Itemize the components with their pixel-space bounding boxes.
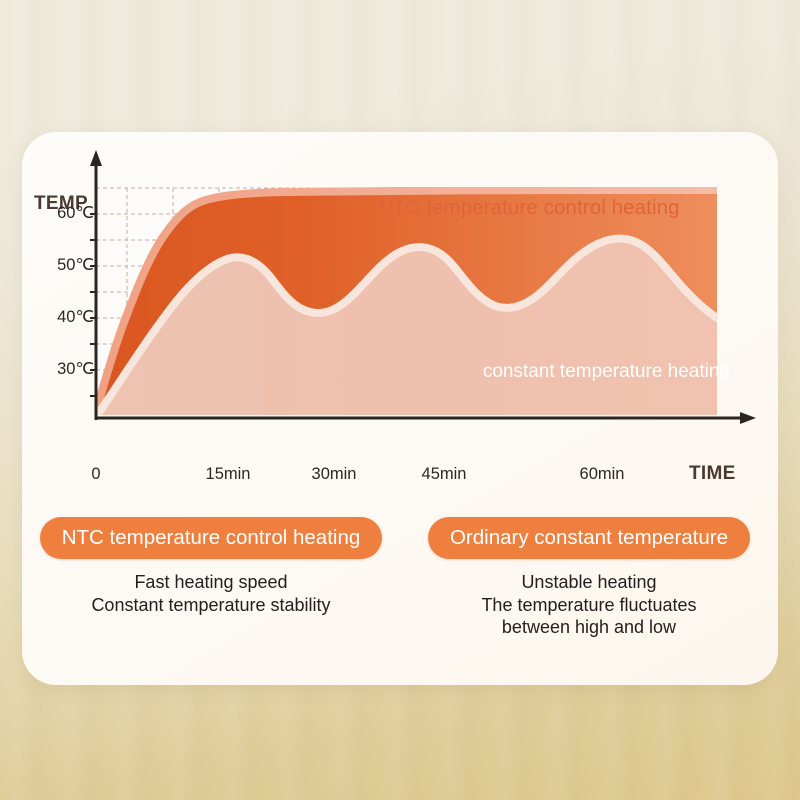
y-tick-label-60: 60℃ xyxy=(32,203,94,223)
legend-blurb-ntc: Fast heating speed Constant temperature … xyxy=(91,571,330,616)
legend-pill-ordinary[interactable]: Ordinary constant temperature xyxy=(428,517,750,559)
y-tick-label-50: 50℃ xyxy=(32,255,94,275)
time-axis-caption: TIME xyxy=(689,463,736,485)
x-tick-label-45min: 45min xyxy=(422,465,467,484)
x-tick-label-30min: 30min xyxy=(312,465,357,484)
y-tick-label-40: 40℃ xyxy=(32,307,94,327)
legend-column-ordinary: Ordinary constant temperature Unstable h… xyxy=(400,517,778,685)
x-tick-label-60min: 60min xyxy=(580,465,625,484)
x-tick-label-0: 0 xyxy=(91,465,100,484)
temperature-chart: TEMP TIME 60℃ 50℃ 40℃ 30℃ 0 15min 30min … xyxy=(22,132,778,512)
legend-column-ntc: NTC temperature control heating Fast hea… xyxy=(22,517,400,685)
x-tick-label-15min: 15min xyxy=(206,465,251,484)
series-label-constant: constant temperature heating xyxy=(470,360,730,385)
series-label-ntc: NTC temperature control heating xyxy=(378,196,680,220)
legend-blurb-ordinary: Unstable heating The temperature fluctua… xyxy=(481,571,696,639)
y-tick-label-30: 30℃ xyxy=(32,359,94,379)
y-tick-label-group: 60℃ 50℃ 40℃ 30℃ xyxy=(22,132,94,512)
chart-canvas xyxy=(22,132,778,512)
legend-pill-ntc[interactable]: NTC temperature control heating xyxy=(40,517,383,559)
x-axis-arrow-icon xyxy=(740,412,756,424)
comparison-card: TEMP TIME 60℃ 50℃ 40℃ 30℃ 0 15min 30min … xyxy=(22,132,778,685)
legend-footer: NTC temperature control heating Fast hea… xyxy=(22,517,778,685)
